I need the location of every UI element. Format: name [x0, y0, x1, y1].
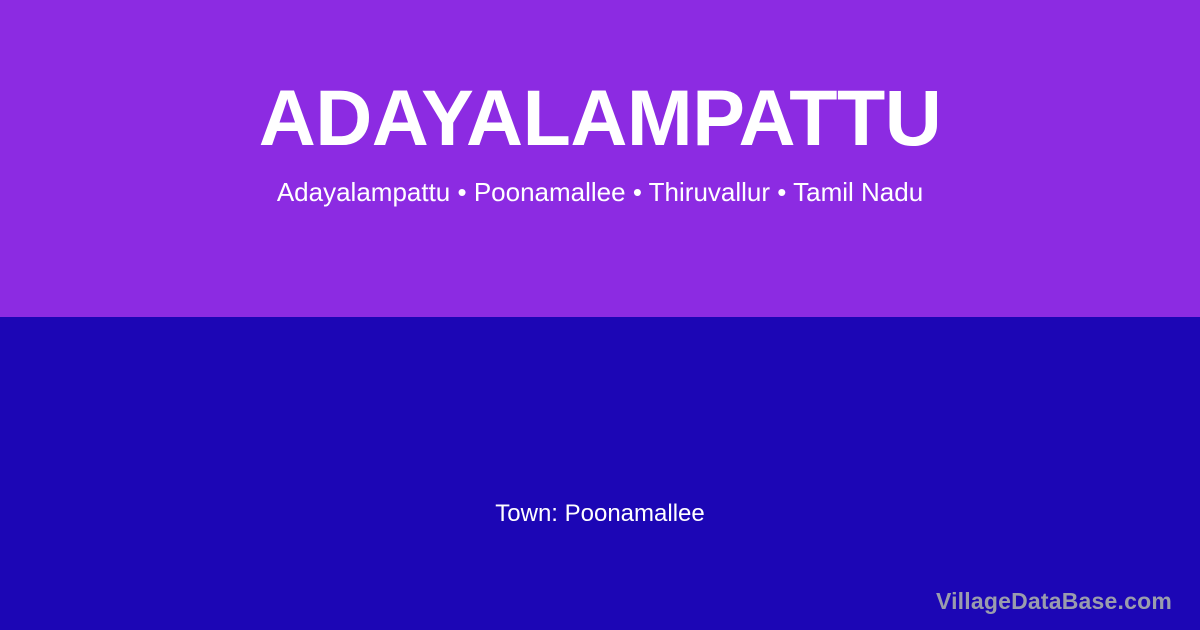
location-info-card: ADAYALAMPATTU Adayalampattu • Poonamalle…: [0, 0, 1200, 630]
town-detail: Town: Poonamallee: [0, 500, 1200, 529]
breadcrumb: Adayalampattu • Poonamallee • Thiruvallu…: [277, 176, 923, 209]
page-title: ADAYALAMPATTU: [259, 78, 942, 157]
details-panel: Town: Poonamallee: [0, 317, 1200, 630]
site-watermark: VillageDataBase.com: [936, 588, 1172, 616]
hero-banner: ADAYALAMPATTU Adayalampattu • Poonamalle…: [0, 0, 1200, 317]
